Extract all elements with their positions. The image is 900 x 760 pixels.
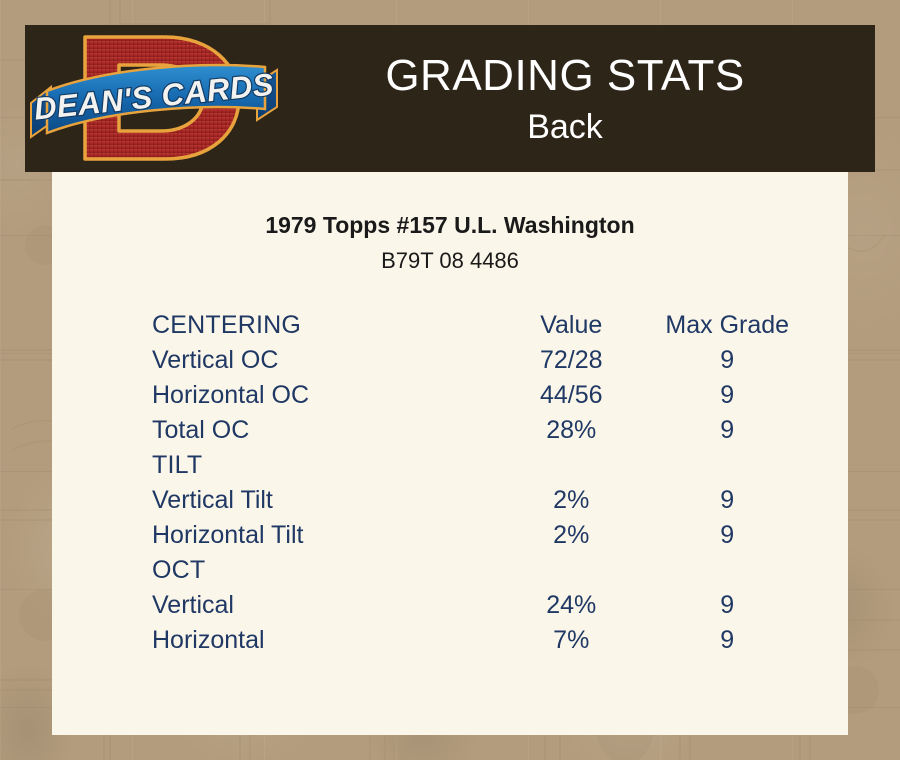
- stat-value: 7%: [490, 623, 653, 658]
- section-title-tilt: TILT: [152, 448, 490, 483]
- stat-label: Horizontal Tilt: [152, 518, 490, 553]
- card-serial-number: B79T 08 4486: [52, 248, 848, 274]
- stat-max-grade: 9: [653, 483, 803, 518]
- stat-max-grade: 9: [653, 518, 803, 553]
- section-header-row: OCT: [152, 553, 802, 588]
- table-row: Total OC28%9: [152, 413, 802, 448]
- stat-label: Vertical: [152, 588, 490, 623]
- stat-max-grade: 9: [653, 623, 803, 658]
- section-spacer-grade: [653, 448, 803, 483]
- deans-cards-logo[interactable]: DEAN'S CARDS: [25, 25, 285, 172]
- section-spacer-value: [490, 448, 653, 483]
- table-row: Vertical Tilt2%9: [152, 483, 802, 518]
- content-panel: 1979 Topps #157 U.L. Washington B79T 08 …: [52, 172, 848, 735]
- stat-label: Horizontal: [152, 623, 490, 658]
- table-row: Vertical24%9: [152, 588, 802, 623]
- stat-label: Total OC: [152, 413, 490, 448]
- stat-max-grade: 9: [653, 588, 803, 623]
- stat-value: 44/56: [490, 378, 653, 413]
- stat-value: 2%: [490, 518, 653, 553]
- section-spacer-value: [490, 553, 653, 588]
- table-row: Vertical OC72/289: [152, 343, 802, 378]
- stat-value: 28%: [490, 413, 653, 448]
- stat-label: Horizontal OC: [152, 378, 490, 413]
- table-row: Horizontal7%9: [152, 623, 802, 658]
- stat-value: 72/28: [490, 343, 653, 378]
- column-header-max-grade: Max Grade: [653, 308, 803, 343]
- section-header-row: CENTERINGValueMax Grade: [152, 308, 802, 343]
- stat-max-grade: 9: [653, 378, 803, 413]
- grading-stats-section: CENTERINGValueMax GradeVertical OC72/289…: [52, 308, 848, 658]
- section-title-oct: OCT: [152, 553, 490, 588]
- table-row: Horizontal OC44/569: [152, 378, 802, 413]
- grading-stats-table: CENTERINGValueMax GradeVertical OC72/289…: [152, 308, 802, 658]
- page-header: DEAN'S CARDS GRADING STATS Back: [25, 25, 875, 172]
- stat-value: 24%: [490, 588, 653, 623]
- table-row: Horizontal Tilt2%9: [152, 518, 802, 553]
- stat-max-grade: 9: [653, 343, 803, 378]
- card-title: 1979 Topps #157 U.L. Washington: [52, 212, 848, 239]
- page-title: GRADING STATS: [285, 54, 845, 98]
- header-title-group: GRADING STATS Back: [285, 54, 875, 144]
- page-subtitle: Back: [285, 110, 845, 144]
- section-spacer-grade: [653, 553, 803, 588]
- stat-label: Vertical OC: [152, 343, 490, 378]
- section-header-row: TILT: [152, 448, 802, 483]
- stat-value: 2%: [490, 483, 653, 518]
- stat-max-grade: 9: [653, 413, 803, 448]
- section-title-centering: CENTERING: [152, 308, 490, 343]
- column-header-value: Value: [490, 308, 653, 343]
- stat-label: Vertical Tilt: [152, 483, 490, 518]
